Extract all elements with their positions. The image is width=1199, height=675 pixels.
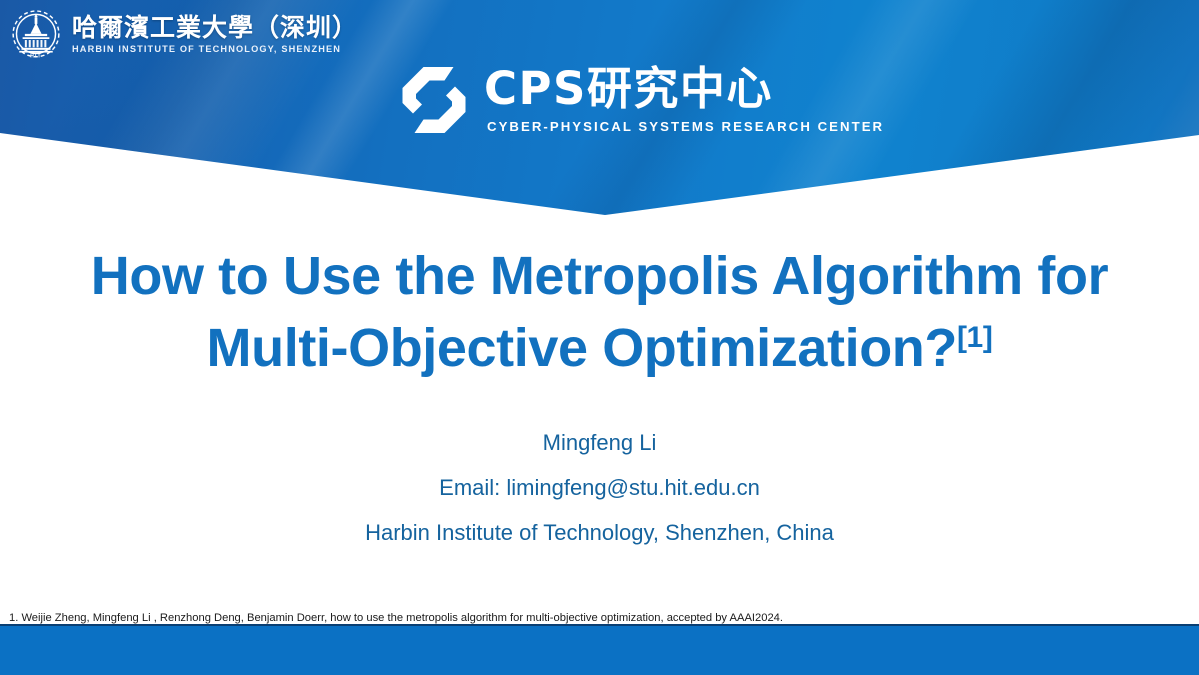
hit-university-logo: HIT 哈爾濱工業大學（深圳） HARBIN INSTITUTE OF TECH… [8, 6, 358, 64]
svg-text:HIT: HIT [30, 53, 41, 59]
hit-name-english: HARBIN INSTITUTE OF TECHNOLOGY, SHENZHEN [72, 45, 358, 54]
header-banner: HIT 哈爾濱工業大學（深圳） HARBIN INSTITUTE OF TECH… [0, 0, 1199, 232]
banner-streak [986, 0, 1199, 232]
page-title: How to Use the Metropolis Algorithm for … [0, 240, 1199, 384]
hit-seal-icon: HIT [8, 6, 64, 64]
hit-wordmark-group: 哈爾濱工業大學（深圳） HARBIN INSTITUTE OF TECHNOLO… [72, 15, 358, 54]
cps-s-mark-icon [398, 62, 470, 138]
cps-research-center-logo: CPS研究中心 CYBER-PHYSICAL SYSTEMS RESEARCH … [398, 62, 884, 138]
presentation-slide: HIT 哈爾濱工業大學（深圳） HARBIN INSTITUTE OF TECH… [0, 0, 1199, 675]
cps-subtitle: CYBER-PHYSICAL SYSTEMS RESEARCH CENTER [487, 119, 884, 134]
title-line-2-text: Multi-Objective Optimization? [207, 318, 957, 378]
title-citation-superscript: [1] [957, 321, 992, 354]
title-line-2: Multi-Objective Optimization?[1] [0, 312, 1199, 384]
author-block: Mingfeng Li Email: limingfeng@stu.hit.ed… [0, 420, 1199, 555]
bottom-bar [0, 626, 1199, 675]
author-affiliation: Harbin Institute of Technology, Shenzhen… [0, 510, 1199, 555]
title-line-1: How to Use the Metropolis Algorithm for [0, 240, 1199, 312]
author-email: Email: limingfeng@stu.hit.edu.cn [0, 465, 1199, 510]
cps-title: CPS研究中心 [484, 66, 884, 111]
hit-name-chinese: 哈爾濱工業大學（深圳） [72, 15, 358, 40]
author-name: Mingfeng Li [0, 420, 1199, 465]
footnote-reference: 1. Weijie Zheng, Mingfeng Li , Renzhong … [9, 611, 783, 625]
cps-wordmark-group: CPS研究中心 CYBER-PHYSICAL SYSTEMS RESEARCH … [484, 66, 884, 134]
